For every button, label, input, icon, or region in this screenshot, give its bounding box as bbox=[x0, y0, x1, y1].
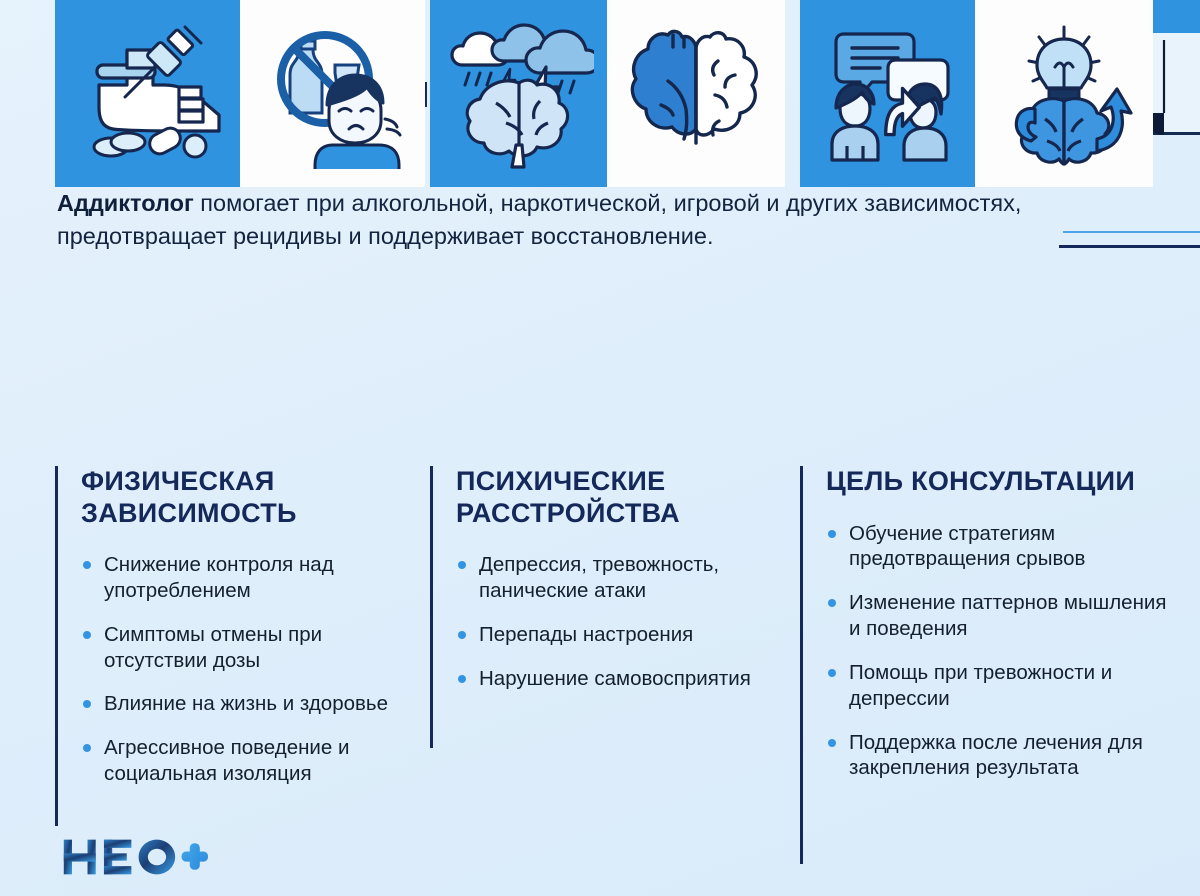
list-item: Влияние на жизнь и здоровье bbox=[81, 691, 415, 717]
tile-no-alcohol-sad-person bbox=[240, 0, 425, 187]
list-item: Симптомы отмены при отсутствии дозы bbox=[81, 622, 415, 674]
tile-brain-lightbulb-arrows bbox=[975, 0, 1153, 187]
list-item: Перепады настроения bbox=[456, 622, 780, 648]
bullet-list: Депрессия, тревожность, панические атаки… bbox=[456, 552, 780, 691]
list-item: Помощь при тревожности и депрессии bbox=[826, 660, 1170, 712]
column-heading: ФИЗИЧЕСКАЯ ЗАВИСИМОСТЬ bbox=[81, 466, 415, 529]
infographic-page: Когда нужна консультация аддикктолога Ад… bbox=[0, 0, 1200, 896]
tile-brain-storm-cloud bbox=[430, 0, 607, 187]
list-item: Агрессивное поведение и социальная изоля… bbox=[81, 735, 415, 787]
column-consultation-goal: ЦЕЛЬ КОНСУЛЬТАЦИИ Обучение стратегиям пр… bbox=[800, 466, 1170, 799]
column-heading: ЦЕЛЬ КОНСУЛЬТАЦИИ bbox=[826, 466, 1170, 498]
neo-plus-logo bbox=[55, 836, 215, 878]
subtitle-lead-word: Аддиктолог bbox=[57, 190, 194, 216]
list-item: Изменение паттернов мышления и поведения bbox=[826, 590, 1170, 642]
list-item: Снижение контроля над употреблением bbox=[81, 552, 415, 604]
column-mental-disorders: ПСИХИЧЕСКИЕ РАССТРОЙСТВА Депрессия, трев… bbox=[430, 466, 780, 709]
bullet-list: Обучение стратегиям предотвращения срыво… bbox=[826, 521, 1170, 782]
bullet-list: Снижение контроля над употреблением Симп… bbox=[81, 552, 415, 787]
page-subtitle: Аддиктолог помогает при алкогольной, нар… bbox=[57, 187, 1117, 254]
list-item: Обучение стратегиям предотвращения срыво… bbox=[826, 521, 1170, 573]
tile-heart-brain bbox=[607, 0, 785, 187]
divider-light-rule bbox=[1063, 231, 1200, 233]
subtitle-body: помогает при алкогольной, наркотической,… bbox=[57, 190, 1021, 249]
tile-arm-syringe-pills bbox=[55, 0, 240, 187]
list-item: Нарушение самовосприятия bbox=[456, 666, 780, 692]
column-physical-dependence: ФИЗИЧЕСКАЯ ЗАВИСИМОСТЬ Снижение контроля… bbox=[55, 466, 415, 805]
tile-people-speech-bubbles bbox=[800, 0, 975, 187]
list-item: Депрессия, тревожность, панические атаки bbox=[456, 552, 780, 604]
divider-dark-rule bbox=[1059, 245, 1200, 248]
column-heading: ПСИХИЧЕСКИЕ РАССТРОЙСТВА bbox=[456, 466, 780, 529]
list-item: Поддержка после лечения для закрепления … bbox=[826, 730, 1170, 782]
